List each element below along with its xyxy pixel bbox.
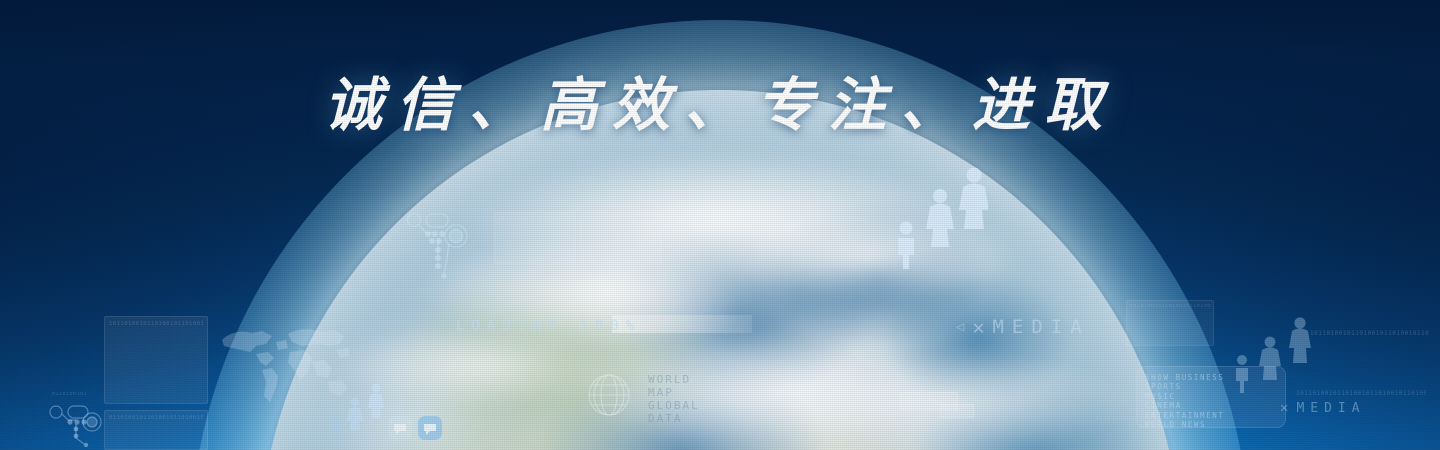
news-categories-list: SHOW BUSINESS SPORTS MUSIC CINEMA ENTERT… — [1145, 373, 1277, 429]
media-branding-small: ✕ MEDIA — [1280, 400, 1366, 416]
media-label: MEDIA — [992, 316, 1089, 338]
loading-label: LOADING 100% — [456, 318, 641, 334]
news-category-item: ENTERTAINMENT — [1145, 411, 1277, 420]
earth-globe — [260, 90, 1180, 450]
world-line: DATA — [648, 412, 700, 425]
news-category-item: MUSIC — [1145, 392, 1277, 401]
hero-banner: 01101001011010 1011010010110100101101001… — [0, 0, 1440, 450]
world-line: GLOBAL — [648, 399, 700, 412]
media-branding: ◁ ✕ MEDIA — [956, 315, 1090, 339]
news-category-item: SPORTS — [1145, 382, 1277, 391]
volume-icon: ◁ — [956, 319, 964, 335]
news-category-item: CINEMA — [1145, 401, 1277, 410]
news-categories-panel: SHOW BUSINESS SPORTS MUSIC CINEMA ENTERT… — [1136, 366, 1286, 428]
close-x-icon: ✕ — [972, 315, 984, 339]
news-category-item: SHOW BUSINESS — [1145, 373, 1277, 382]
world-line: MAP — [648, 386, 700, 399]
world-label-group: WORLD MAP GLOBAL DATA — [648, 373, 700, 425]
page-title: 诚信、高效、专注、进取 — [0, 58, 1440, 142]
news-category-item: WORLD NEWS — [1145, 420, 1277, 429]
media-label-small: MEDIA — [1296, 401, 1365, 416]
world-line: WORLD — [648, 373, 700, 386]
